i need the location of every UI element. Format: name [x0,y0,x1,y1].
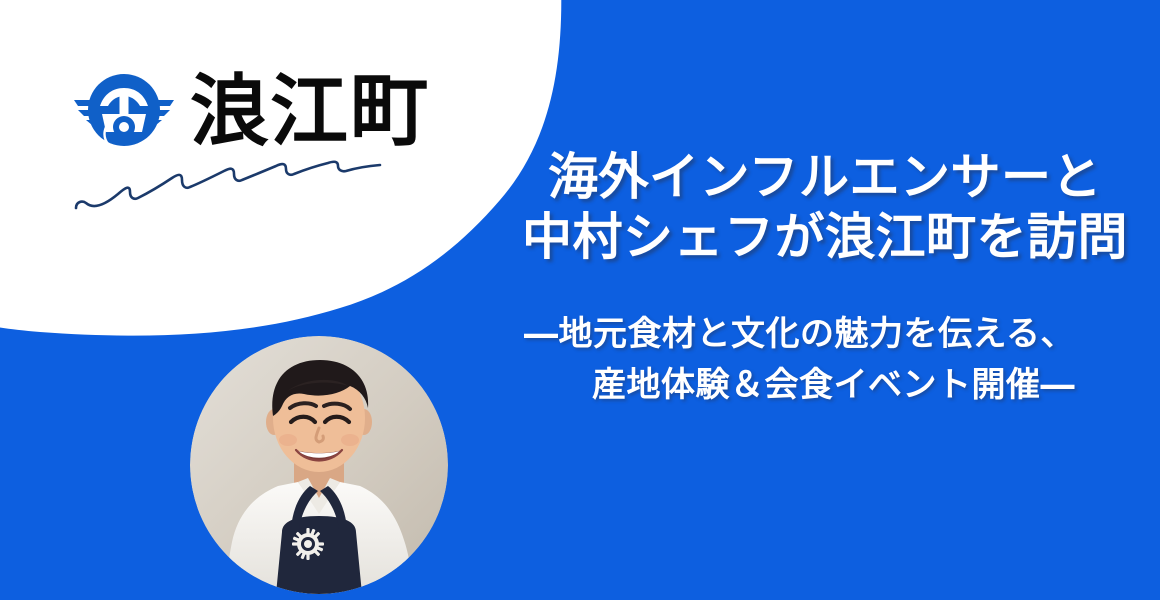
headline-line-2: 中村シェフが浪江町を訪問 [510,208,1140,268]
namie-town-crest-icon [72,58,176,162]
apron-sunburst-emblem [292,528,324,560]
wave-line-icon [72,160,384,216]
headline-block: 海外インフルエンサーと 中村シェフが浪江町を訪問 ―地元食材と文化の魅力を伝える… [510,148,1140,411]
chef-portrait-photo [190,336,448,594]
promo-banner: 浪江町 [0,0,1160,600]
subtitle-line-2: 産地体験＆会食イベント開催― [510,360,1140,411]
site-logo[interactable]: 浪江町 [72,58,430,162]
page-subtitle: ―地元食材と文化の魅力を伝える、 産地体験＆会食イベント開催― [510,309,1140,411]
headline-line-1: 海外インフルエンサーと [510,148,1140,208]
logo-wordmark: 浪江町 [190,73,430,151]
subtitle-line-1: ―地元食材と文化の魅力を伝える、 [510,309,1140,360]
page-title: 海外インフルエンサーと 中村シェフが浪江町を訪問 [510,148,1140,267]
